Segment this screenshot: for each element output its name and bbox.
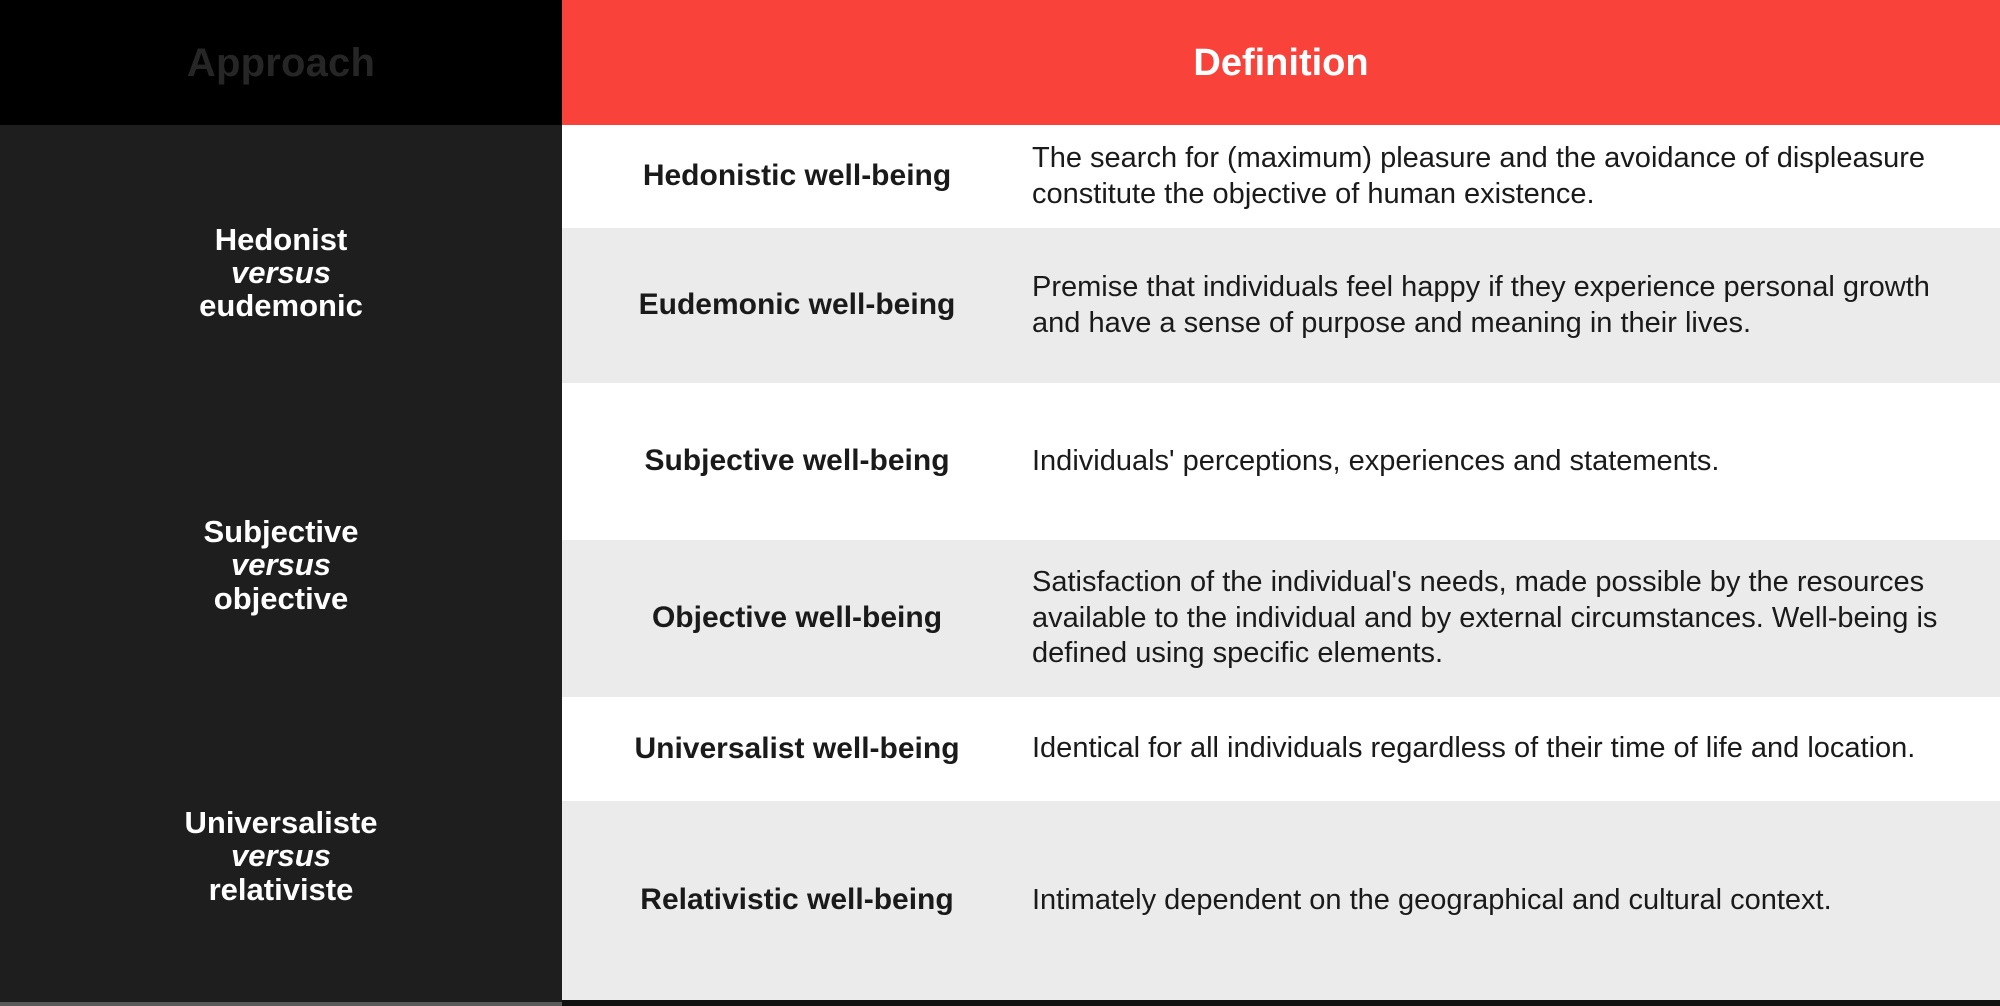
term-label: Subjective well-being	[644, 444, 949, 479]
definition-cell: Identical for all individuals regardless…	[1032, 731, 2000, 767]
sidebar-bottom-divider	[0, 1002, 562, 1006]
approach-group-first-term: Subjective	[203, 515, 358, 548]
definition-rows: Hedonistic well-being The search for (ma…	[562, 125, 2000, 1000]
definition-cell: Individuals' perceptions, experiences an…	[1032, 444, 2000, 480]
approach-header-label: Approach	[187, 43, 375, 83]
approach-group-second-term: eudemonic	[199, 289, 363, 322]
term-cell: Relativistic well-being	[562, 883, 1032, 918]
approach-group-subjective: Subjective versus objective	[0, 420, 562, 710]
table-row: Universalist well-being Identical for al…	[562, 697, 2000, 801]
approach-group-connector: versus	[231, 256, 331, 289]
table-row: Subjective well-being Individuals' perce…	[562, 383, 2000, 540]
term-label: Universalist well-being	[634, 732, 959, 767]
definition-header-label: Definition	[1193, 44, 1368, 82]
definition-text: The search for (maximum) pleasure and th…	[1032, 141, 1982, 213]
approach-group-connector: versus	[231, 548, 331, 581]
definition-column: Definition Hedonistic well-being The sea…	[562, 0, 2000, 1006]
table-row: Objective well-being Satisfaction of the…	[562, 540, 2000, 697]
term-cell: Hedonistic well-being	[562, 159, 1032, 194]
table-row: Eudemonic well-being Premise that indivi…	[562, 228, 2000, 383]
definition-cell: Intimately dependent on the geographical…	[1032, 883, 2000, 919]
bottom-divider	[562, 1000, 2000, 1006]
term-label: Eudemonic well-being	[639, 288, 956, 323]
approach-column: Approach Hedonist versus eudemonic Subje…	[0, 0, 562, 1006]
definition-text: Individuals' perceptions, experiences an…	[1032, 444, 1719, 480]
table-row: Hedonistic well-being The search for (ma…	[562, 125, 2000, 228]
approach-group-second-term: objective	[214, 582, 348, 615]
term-label: Relativistic well-being	[640, 883, 953, 918]
definition-column-header: Definition	[562, 0, 2000, 125]
definition-text: Intimately dependent on the geographical…	[1032, 883, 1832, 919]
approach-group-first-term: Universaliste	[185, 806, 378, 839]
term-label: Hedonistic well-being	[643, 159, 951, 194]
definition-cell: The search for (maximum) pleasure and th…	[1032, 141, 2000, 213]
term-cell: Universalist well-being	[562, 732, 1032, 767]
term-cell: Subjective well-being	[562, 444, 1032, 479]
approach-group-connector: versus	[231, 839, 331, 872]
approach-group-second-term: relativiste	[209, 873, 354, 906]
approach-column-body: Hedonist versus eudemonic Subjective ver…	[0, 125, 562, 1002]
definition-text: Satisfaction of the individual's needs, …	[1032, 565, 1982, 673]
approach-group-first-term: Hedonist	[215, 223, 348, 256]
wellbeing-approaches-table: Approach Hedonist versus eudemonic Subje…	[0, 0, 2000, 1006]
term-label: Objective well-being	[652, 601, 942, 636]
definition-cell: Premise that individuals feel happy if t…	[1032, 270, 2000, 342]
definition-cell: Satisfaction of the individual's needs, …	[1032, 565, 2000, 673]
approach-column-header: Approach	[0, 0, 562, 125]
term-cell: Eudemonic well-being	[562, 288, 1032, 323]
definition-text: Premise that individuals feel happy if t…	[1032, 270, 1982, 342]
term-cell: Objective well-being	[562, 601, 1032, 636]
table-row: Relativistic well-being Intimately depen…	[562, 801, 2000, 1000]
approach-group-universaliste: Universaliste versus relativiste	[0, 710, 562, 1002]
approach-group-hedonist: Hedonist versus eudemonic	[0, 125, 562, 420]
definition-text: Identical for all individuals regardless…	[1032, 731, 1915, 767]
